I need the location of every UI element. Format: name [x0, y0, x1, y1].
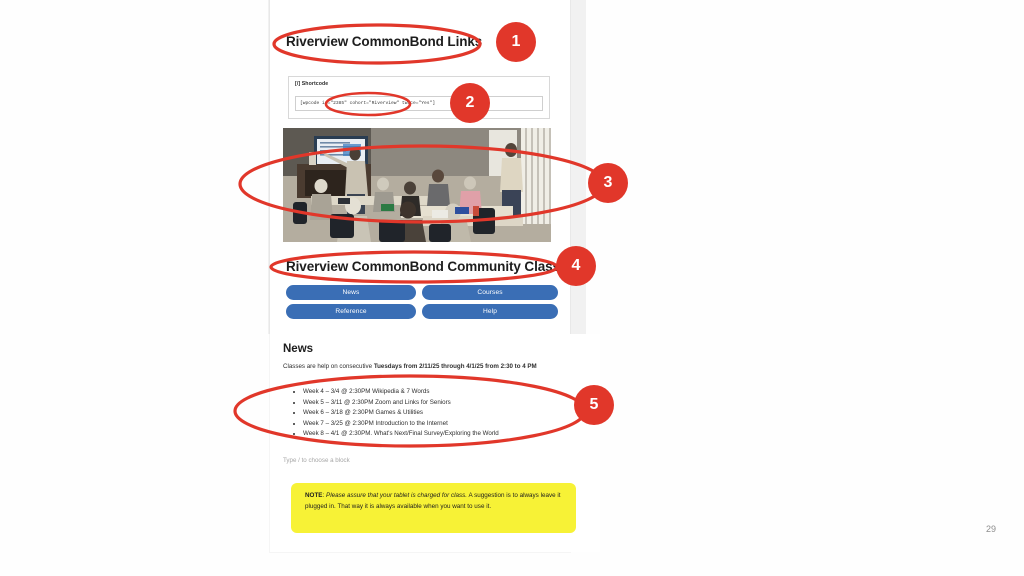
classroom-photo: [283, 128, 551, 242]
shortcode-label: [/] Shortcode: [295, 81, 328, 87]
list-item: Week 7 – 3/25 @ 2:30PM Introduction to t…: [303, 419, 499, 430]
callout-badge-2-label: 2: [466, 94, 475, 112]
callout-badge-2: 2: [450, 83, 490, 123]
list-item: Week 6 – 3/18 @ 2:30PM Games & Utilities: [303, 408, 499, 419]
note-text: NOTE: Please assure that your tablet is …: [305, 490, 564, 513]
page-title-classroom: Riverview CommonBond Community Classroom: [286, 259, 593, 274]
callout-badge-1: 1: [496, 22, 536, 62]
page-title-links: Riverview CommonBond Links: [286, 34, 482, 49]
page-number: 29: [986, 524, 996, 534]
note-italic: Please assure that your tablet is charge…: [326, 492, 467, 499]
callout-badge-5-label: 5: [590, 396, 599, 414]
news-heading: News: [283, 343, 313, 355]
news-subtitle-bold: Tuesdays from 2/11/25 through 4/1/25 fro…: [374, 363, 537, 370]
slide-canvas: Riverview CommonBond Links [/] Shortcode…: [0, 0, 1024, 576]
news-subtitle: Classes are help on consecutive Tuesdays…: [283, 363, 537, 370]
shortcode-block[interactable]: [/] Shortcode [wpcode id="2385" cohort="…: [288, 76, 550, 119]
list-item: Week 5 – 3/11 @ 2:30PM Zoom and Links fo…: [303, 398, 499, 409]
callout-badge-3: 3: [588, 163, 628, 203]
callout-badge-3-label: 3: [604, 174, 613, 192]
news-subtitle-lead: Classes are help on consecutive: [283, 363, 374, 370]
callout-badge-4-label: 4: [572, 257, 581, 275]
nav-button-reference[interactable]: Reference: [286, 304, 416, 319]
block-placeholder-text[interactable]: Type / to choose a block: [283, 457, 350, 464]
callout-badge-4: 4: [556, 246, 596, 286]
callout-badge-5: 5: [574, 385, 614, 425]
callout-badge-1-label: 1: [512, 33, 521, 51]
note-callout-box: NOTE: Please assure that your tablet is …: [291, 483, 576, 533]
shortcode-input[interactable]: [wpcode id="2385" cohort="Riverview" twi…: [295, 96, 543, 111]
nav-button-courses[interactable]: Courses: [422, 285, 558, 300]
nav-button-news[interactable]: News: [286, 285, 416, 300]
note-label: NOTE: [305, 492, 323, 499]
list-item: Week 8 – 4/1 @ 2:30PM. What's Next/Final…: [303, 429, 499, 440]
nav-button-help[interactable]: Help: [422, 304, 558, 319]
news-list: Week 4 – 3/4 @ 2:30PM Wikipedia & 7 Word…: [291, 387, 499, 440]
list-item: Week 4 – 3/4 @ 2:30PM Wikipedia & 7 Word…: [303, 387, 499, 398]
